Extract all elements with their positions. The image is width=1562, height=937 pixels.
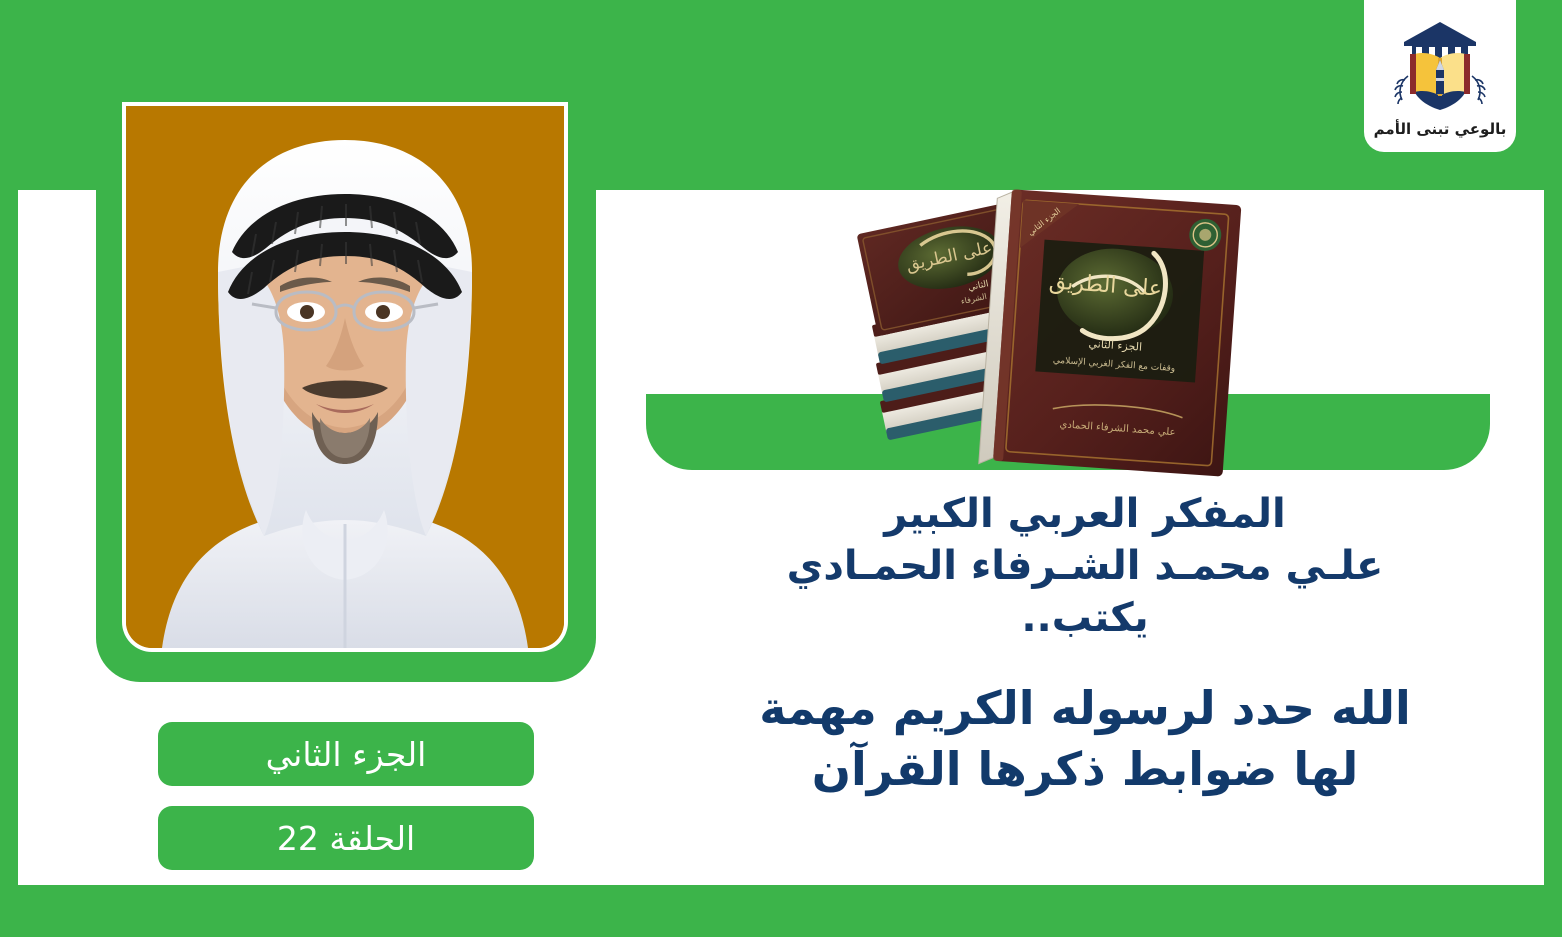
episode-badge-label: الحلقة 22 xyxy=(277,819,415,858)
headline-line-1: الله حدد لرسوله الكريم مهمة xyxy=(620,678,1550,739)
part-badge-label: الجزء الثاني xyxy=(266,735,427,774)
author-name: علـي محمـد الشـرفاء الحمـادي xyxy=(620,540,1550,592)
brand-logo-card: بالوعي تبنى الأمم xyxy=(1364,0,1516,152)
left-green-border xyxy=(0,190,18,900)
writes-label: يكتب.. xyxy=(620,592,1550,644)
episode-badge[interactable]: الحلقة 22 xyxy=(158,806,534,870)
headline-line-2: لها ضوابط ذكرها القرآن xyxy=(620,739,1550,800)
headline: الله حدد لرسوله الكريم مهمة لها ضوابط ذك… xyxy=(620,678,1550,799)
poster-canvas: بالوعي تبنى الأمم xyxy=(0,0,1562,937)
shield-book-temple-icon xyxy=(1388,20,1492,116)
subtitle-line-1: المفكر العربي الكبير xyxy=(620,488,1550,540)
book-stack-image: على الطريق الجزء الثاني علي محمد الشرفاء xyxy=(840,185,1280,485)
article-text-block: المفكر العربي الكبير علـي محمـد الشـرفاء… xyxy=(620,488,1550,799)
bottom-green-band xyxy=(0,885,1562,937)
portrait-photo xyxy=(126,106,564,648)
logo-tagline: بالوعي تبنى الأمم xyxy=(1374,120,1507,138)
part-badge[interactable]: الجزء الثاني xyxy=(158,722,534,786)
